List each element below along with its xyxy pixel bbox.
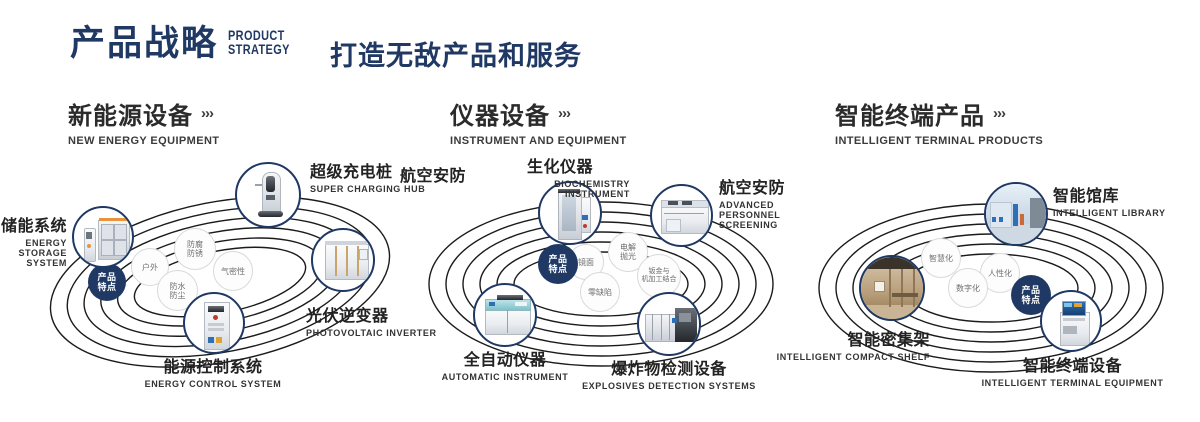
product-features-badge: 产品特点 — [88, 263, 126, 301]
section-title-cn: 新能源设备 — [68, 96, 193, 131]
node-caption-automatic-instrument: 全自动仪器 AUTOMATIC INSTRUMENT — [400, 346, 610, 382]
section-title-instrument: 仪器设备››› INSTRUMENT AND EQUIPMENT — [450, 96, 627, 147]
node-caption-intelligent-library: 智能馆库 INTELLIGENT LIBRARY — [1053, 182, 1166, 218]
node-caption-aviation-security: 航空安防 — [400, 162, 466, 186]
node-caption-cn: 生化仪器 — [460, 153, 660, 177]
node-caption-en: AUTOMATIC INSTRUMENT — [400, 372, 610, 382]
feature-bubble-label: 钣金与 机加工结合 — [642, 268, 677, 284]
node-caption-advanced-personnel-screening: 航空安防 ADVANCED PERSONNEL SCREENING — [719, 174, 807, 230]
feature-bubble-label: 镜面 — [578, 258, 594, 267]
feature-bubble-label: 户外 — [142, 263, 158, 272]
poster-header: 产品战略 PRODUCT STRATEGY — [70, 24, 307, 64]
node-caption-en: INTELLIGENT COMPACT SHELF — [770, 352, 930, 362]
feature-bubble: 数字化 — [948, 268, 988, 308]
node-caption-en: ENERGY CONTROL SYSTEM — [98, 379, 328, 389]
node-caption-en: ADVANCED PERSONNEL SCREENING — [719, 200, 807, 230]
node-caption-energy-storage-system: 储能系统 ENERGY STORAGE SYSTEM — [0, 212, 67, 268]
feature-bubble-label: 防腐 防锈 — [187, 240, 203, 258]
product-features-badge-label: 产品特点 — [548, 254, 567, 274]
diagram-group-new-energy: 防腐 防锈 户外 防水 防尘 气密性 产品特点 — [20, 150, 420, 415]
node-caption-en: EXPLOSIVES DETECTION SYSTEMS — [564, 381, 774, 391]
node-caption-cn: 储能系统 — [0, 212, 67, 236]
feature-bubble-label: 电解 抛光 — [620, 243, 636, 261]
page-subtitle: 打造无敌产品和服务 — [330, 34, 582, 73]
node-caption-biochemistry-instrument: 生化仪器 BIOCHEMISTRY INSTRUMENT — [460, 153, 660, 199]
section-title-en: INSTRUMENT AND EQUIPMENT — [450, 135, 627, 147]
feature-bubble: 防腐 防锈 — [174, 228, 216, 270]
section-title-new-energy: 新能源设备››› NEW ENERGY EQUIPMENT — [68, 96, 219, 147]
node-caption-intelligent-terminal-equipment: 智能终端设备 INTELLIGENT TERMINAL EQUIPMENT — [965, 352, 1180, 388]
node-caption-cn: 航空安防 — [719, 174, 807, 198]
feature-bubble: 气密性 — [213, 251, 253, 291]
section-title-en: INTELLIGENT TERMINAL PRODUCTS — [835, 135, 1043, 147]
node-energy-control-system[interactable] — [183, 292, 245, 354]
node-caption-cn: 航空安防 — [400, 162, 466, 186]
section-title-en: NEW ENERGY EQUIPMENT — [68, 135, 219, 147]
chevrons-right-icon: ››› — [201, 105, 213, 122]
node-caption-intelligent-compact-shelf: 智能密集架 INTELLIGENT COMPACT SHELF — [770, 326, 930, 362]
node-advanced-personnel-screening[interactable] — [650, 184, 713, 247]
feature-bubble: 零缺陷 — [580, 272, 620, 312]
diagram-group-intelligent-terminal: 智慧化 人性化 数字化 产品特点 智能馆库 — [795, 150, 1195, 415]
product-features-badge-label: 产品特点 — [1021, 285, 1040, 305]
feature-bubble-label: 人性化 — [988, 269, 1012, 278]
feature-bubble-label: 零缺陷 — [588, 288, 612, 297]
feature-bubble: 钣金与 机加工结合 — [637, 254, 681, 298]
page-title-english-line2: STRATEGY — [228, 42, 290, 56]
node-intelligent-terminal-equipment[interactable] — [1040, 290, 1102, 352]
section-title-cn: 智能终端产品 — [835, 96, 985, 131]
node-automatic-instrument[interactable] — [473, 283, 537, 347]
node-caption-cn: 能源控制系统 — [98, 353, 328, 377]
page-title-english-line1: PRODUCT — [228, 28, 290, 42]
node-energy-storage-system[interactable] — [72, 206, 134, 268]
node-caption-cn: 全自动仪器 — [400, 346, 610, 370]
node-caption-en: ENERGY STORAGE SYSTEM — [0, 238, 67, 268]
feature-bubble-label: 智慧化 — [929, 254, 953, 263]
node-intelligent-library[interactable] — [984, 182, 1048, 246]
page-title-english: PRODUCT STRATEGY — [228, 28, 290, 56]
feature-bubble-label: 气密性 — [221, 267, 245, 276]
node-caption-cn: 智能馆库 — [1053, 182, 1166, 206]
node-caption-en: BIOCHEMISTRY INSTRUMENT — [535, 179, 630, 199]
node-photovoltaic-inverter[interactable] — [311, 228, 375, 292]
node-caption-cn: 智能终端设备 — [965, 352, 1180, 376]
node-caption-energy-control-system: 能源控制系统 ENERGY CONTROL SYSTEM — [98, 353, 328, 389]
page-title: 产品战略 — [70, 24, 218, 64]
node-explosives-detection-systems[interactable] — [637, 292, 701, 356]
node-caption-cn: 智能密集架 — [770, 326, 930, 350]
feature-bubble-label: 防水 防尘 — [170, 282, 186, 300]
node-super-charging-hub[interactable] — [235, 162, 301, 228]
section-title-cn: 仪器设备 — [450, 96, 550, 131]
poster-canvas: 产品战略 PRODUCT STRATEGY 打造无敌产品和服务 新能源设备›››… — [0, 0, 1200, 422]
feature-bubble-label: 数字化 — [956, 284, 980, 293]
node-caption-en: INTELLIGENT TERMINAL EQUIPMENT — [965, 378, 1180, 388]
chevrons-right-icon: ››› — [993, 105, 1005, 122]
diagram-group-instrument: 镜面 电解 抛光 零缺陷 钣金与 机加工结合 产品特点 航空安防 — [405, 150, 805, 415]
section-title-intelligent: 智能终端产品››› INTELLIGENT TERMINAL PRODUCTS — [835, 96, 1043, 147]
chevrons-right-icon: ››› — [558, 105, 570, 122]
product-features-badge-label: 产品特点 — [97, 272, 116, 292]
node-intelligent-compact-shelf[interactable] — [859, 255, 925, 321]
node-caption-en: INTELLIGENT LIBRARY — [1053, 208, 1166, 218]
product-features-badge: 产品特点 — [538, 244, 578, 284]
